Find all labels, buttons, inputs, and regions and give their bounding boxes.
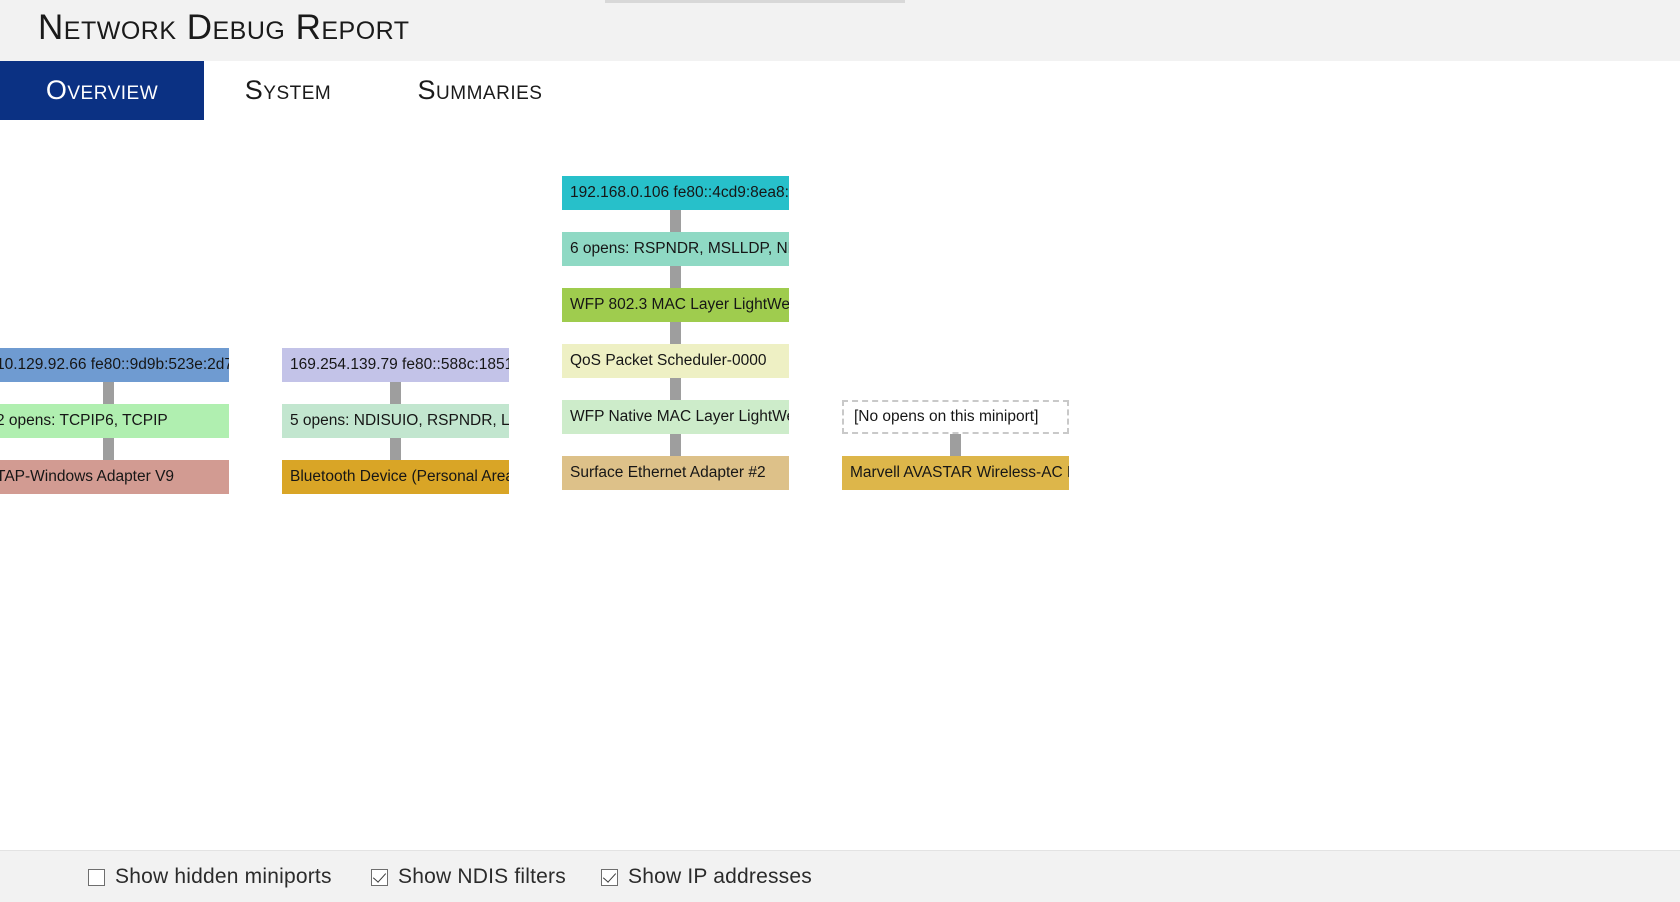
title-bar: Network Debug Report: [0, 0, 1680, 61]
node-ip[interactable]: 192.168.0.106 fe80::4cd9:8ea8:2bc0:e: [562, 176, 789, 210]
stack-connector: [103, 438, 114, 460]
option-show-ndis-filters[interactable]: Show NDIS filters: [371, 851, 566, 902]
tab-summaries[interactable]: Summaries: [372, 61, 588, 120]
stack-connector: [670, 266, 681, 288]
tab-bar: OverviewSystemSummaries Help: [0, 61, 1680, 120]
checkbox-unchecked-icon[interactable]: [88, 869, 105, 886]
node-filter[interactable]: QoS Packet Scheduler-0000: [562, 344, 789, 378]
option-show-hidden-miniports[interactable]: Show hidden miniports: [88, 851, 332, 902]
option-show-ip-addresses[interactable]: Show IP addresses: [601, 851, 812, 902]
option-label: Show hidden miniports: [115, 865, 332, 889]
footer-options-bar: Show hidden miniportsShow NDIS filtersSh…: [0, 850, 1680, 902]
node-miniport[interactable]: Surface Ethernet Adapter #2: [562, 456, 789, 490]
option-label: Show IP addresses: [628, 865, 812, 889]
stack-connector: [103, 382, 114, 404]
node-miniport[interactable]: Marvell AVASTAR Wireless-AC Netw: [842, 456, 1069, 490]
checkbox-checked-icon[interactable]: [601, 869, 618, 886]
page-title: Network Debug Report: [38, 8, 410, 48]
stack-connector: [950, 434, 961, 456]
stack-connector: [670, 210, 681, 232]
node-opens[interactable]: 6 opens: RSPNDR, MSLLDP, NDISUIO: [562, 232, 789, 266]
option-label: Show NDIS filters: [398, 865, 566, 889]
node-empty[interactable]: [No opens on this miniport]: [842, 400, 1069, 434]
checkbox-checked-icon[interactable]: [371, 869, 388, 886]
network-debug-report-window: Network Debug Report OverviewSystemSumma…: [0, 0, 1680, 902]
stack-connector: [390, 438, 401, 460]
stack-connector: [670, 434, 681, 456]
tab-overview[interactable]: Overview: [0, 61, 204, 120]
titlebar-shadow-strip: [605, 0, 905, 3]
node-filter[interactable]: WFP Native MAC Layer LightWeight: [562, 400, 789, 434]
node-opens[interactable]: 5 opens: NDISUIO, RSPNDR, LLTDIO,: [282, 404, 509, 438]
stack-connector: [670, 322, 681, 344]
node-miniport[interactable]: Bluetooth Device (Personal Area Net: [282, 460, 509, 494]
node-ip[interactable]: 10.129.92.66 fe80::9d9b:523e:2d70:2: [0, 348, 229, 382]
node-filter[interactable]: WFP 802.3 MAC Layer LightWeight Fi: [562, 288, 789, 322]
node-opens[interactable]: 2 opens: TCPIP6, TCPIP: [0, 404, 229, 438]
tab-system[interactable]: System: [204, 61, 372, 120]
diagram-canvas: 10.129.92.66 fe80::9d9b:523e:2d70:22 ope…: [0, 120, 1680, 850]
node-miniport[interactable]: TAP-Windows Adapter V9: [0, 460, 229, 494]
node-ip[interactable]: 169.254.139.79 fe80::588c:1851:f711:: [282, 348, 509, 382]
stack-connector: [390, 382, 401, 404]
stack-connector: [670, 378, 681, 400]
